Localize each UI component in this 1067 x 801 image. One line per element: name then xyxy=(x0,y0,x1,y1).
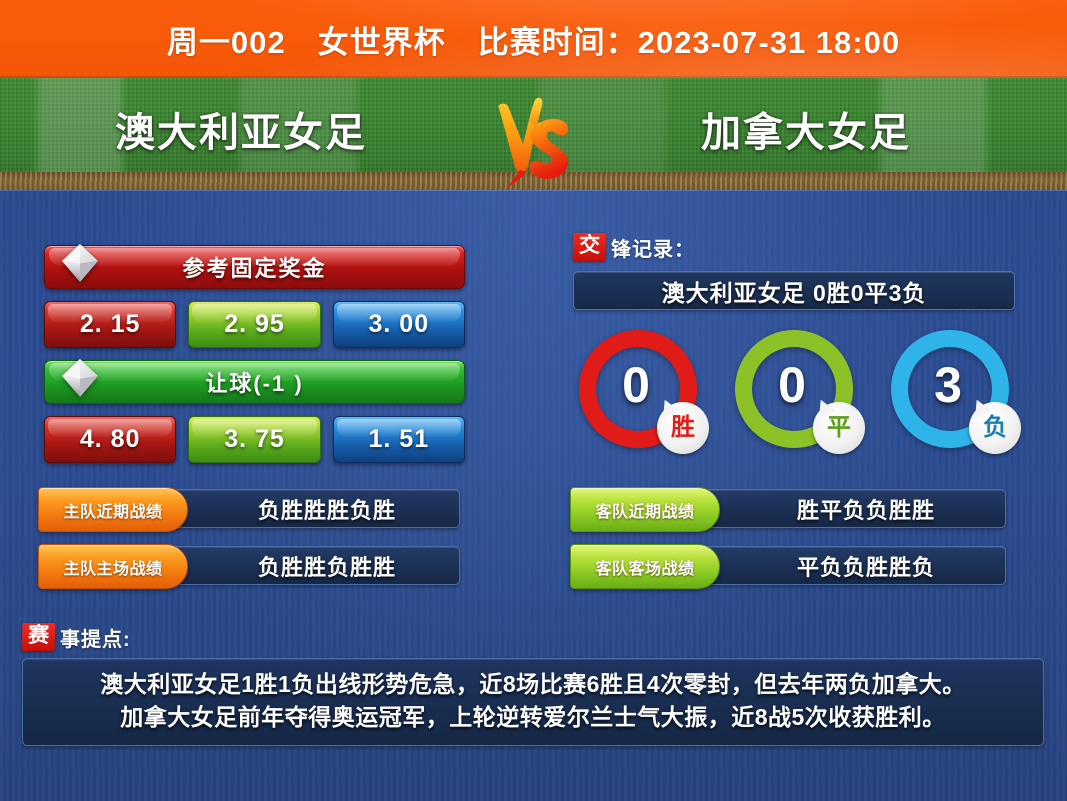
fixed-odd-away-value: 3. 00 xyxy=(369,310,430,339)
ring-win-badge-text: 胜 xyxy=(671,416,695,440)
analysis-line-2: 加拿大女足前年夺得奥运冠军，上轮逆转爱尔兰士气大振，近8战5次收获胜利。 xyxy=(37,701,1029,734)
h2h-label-text: 锋记录： xyxy=(611,233,695,262)
h2h-label-chip: 交 xyxy=(573,233,607,261)
handicap-odd-home-value: 4. 80 xyxy=(80,425,141,454)
h2h-ring-draw: 0 平 xyxy=(735,330,853,448)
ring-draw-badge: 平 xyxy=(813,402,865,454)
ring-draw-value: 0 xyxy=(778,360,806,410)
fixed-odd-draw[interactable]: 2. 95 xyxy=(188,301,320,348)
fixed-odds-title: 参考固定奖金 xyxy=(182,251,326,283)
away-recent-tag: 客队近期战绩 xyxy=(570,487,720,532)
h2h-summary-text: 澳大利亚女足 0胜0平3负 xyxy=(662,274,927,308)
handicap-odd-draw-value: 3. 75 xyxy=(224,425,285,454)
fixed-odds-title-bar: 参考固定奖金 xyxy=(44,245,465,289)
away-recent-tag-text: 客队近期战绩 xyxy=(595,498,694,522)
handicap-odd-away-value: 1. 51 xyxy=(369,425,430,454)
header-bar: 周一002 女世界杯 比赛时间：2023-07-31 18:00 xyxy=(0,0,1067,78)
head-to-head-column: 交 锋记录： 澳大利亚女足 0胜0平3负 0 胜 0 xyxy=(573,232,1015,448)
analysis-section: 赛 事提点: 澳大利亚女足1胜1负出线形势危急，近8场比赛6胜且4次零封，但去年… xyxy=(22,622,1044,746)
handicap-odd-draw[interactable]: 3. 75 xyxy=(188,416,320,463)
fixed-odd-home[interactable]: 2. 15 xyxy=(44,301,176,348)
pitch-banner: 澳大利亚女足 xyxy=(0,78,1067,190)
h2h-section-label: 交 锋记录： xyxy=(573,232,1015,262)
handicap-title: 让球(-1 ) xyxy=(205,366,303,398)
away-recent-value: 胜平负负胜胜 xyxy=(797,493,935,525)
home-venue-value: 负胜胜负胜胜 xyxy=(258,550,396,582)
analysis-label-text: 事提点: xyxy=(60,623,131,652)
handicap-odd-away[interactable]: 1. 51 xyxy=(333,416,465,463)
away-venue-tag: 客队客场战绩 xyxy=(570,544,720,589)
fixed-odd-draw-value: 2. 95 xyxy=(224,310,285,339)
match-preview-graphic: 周一002 女世界杯 比赛时间：2023-07-31 18:00 澳大利亚女足 xyxy=(0,0,1067,801)
form-row-home-recent: 负胜胜胜负胜 主队近期战绩 xyxy=(38,487,460,530)
diamond-icon xyxy=(57,355,103,401)
analysis-label-chip: 赛 xyxy=(22,623,56,651)
h2h-ring-loss: 3 负 xyxy=(891,330,1009,448)
fixed-odds-row: 2. 15 2. 95 3. 00 xyxy=(44,301,465,348)
ring-win-badge: 胜 xyxy=(657,402,709,454)
analysis-line-1: 澳大利亚女足1胜1负出线形势危急，近8场比赛6胜且4次零封，但去年两负加拿大。 xyxy=(37,668,1029,701)
main-panel: 参考固定奖金 2. 15 2. 95 3. 00 xyxy=(0,190,1067,801)
vs-icon xyxy=(482,92,587,190)
ring-loss-value: 3 xyxy=(934,360,962,410)
ring-draw-badge-text: 平 xyxy=(827,416,851,440)
ring-loss-badge: 负 xyxy=(969,402,1021,454)
fixed-odd-away[interactable]: 3. 00 xyxy=(333,301,465,348)
analysis-box: 澳大利亚女足1胜1负出线形势危急，近8场比赛6胜且4次零封，但去年两负加拿大。 … xyxy=(22,658,1044,746)
home-recent-value: 负胜胜胜负胜 xyxy=(258,493,396,525)
home-team-name: 澳大利亚女足 xyxy=(115,100,367,158)
header-title: 周一002 女世界杯 比赛时间：2023-07-31 18:00 xyxy=(167,17,900,62)
form-row-away-recent: 胜平负负胜胜 客队近期战绩 xyxy=(570,487,1006,530)
handicap-odds-row: 4. 80 3. 75 1. 51 xyxy=(44,416,465,463)
fixed-odd-home-value: 2. 15 xyxy=(80,310,141,339)
ring-win-value: 0 xyxy=(622,360,650,410)
odds-column: 参考固定奖金 2. 15 2. 95 3. 00 xyxy=(44,245,465,463)
away-venue-value: 平负负胜胜负 xyxy=(797,550,935,582)
form-rows-home: 负胜胜胜负胜 主队近期战绩 负胜胜负胜胜 主队主场战绩 xyxy=(38,487,460,601)
form-row-away-venue: 平负负胜胜负 客队客场战绩 xyxy=(570,544,1006,587)
form-row-home-venue: 负胜胜负胜胜 主队主场战绩 xyxy=(38,544,460,587)
ring-loss-badge-text: 负 xyxy=(983,416,1007,440)
home-venue-tag-text: 主队主场战绩 xyxy=(63,555,162,579)
handicap-title-bar: 让球(-1 ) xyxy=(44,360,465,404)
handicap-odd-home[interactable]: 4. 80 xyxy=(44,416,176,463)
diamond-icon xyxy=(57,240,103,286)
h2h-ring-win: 0 胜 xyxy=(579,330,697,448)
analysis-label: 赛 事提点: xyxy=(22,622,1044,652)
home-recent-tag-text: 主队近期战绩 xyxy=(63,498,162,522)
away-team-name: 加拿大女足 xyxy=(701,100,911,158)
away-venue-tag-text: 客队客场战绩 xyxy=(595,555,694,579)
home-venue-tag: 主队主场战绩 xyxy=(38,544,188,589)
form-rows-away: 胜平负负胜胜 客队近期战绩 平负负胜胜负 客队客场战绩 xyxy=(570,487,1006,601)
h2h-summary-bar: 澳大利亚女足 0胜0平3负 xyxy=(573,271,1015,310)
h2h-rings: 0 胜 0 平 3 xyxy=(573,330,1015,448)
home-recent-tag: 主队近期战绩 xyxy=(38,487,188,532)
